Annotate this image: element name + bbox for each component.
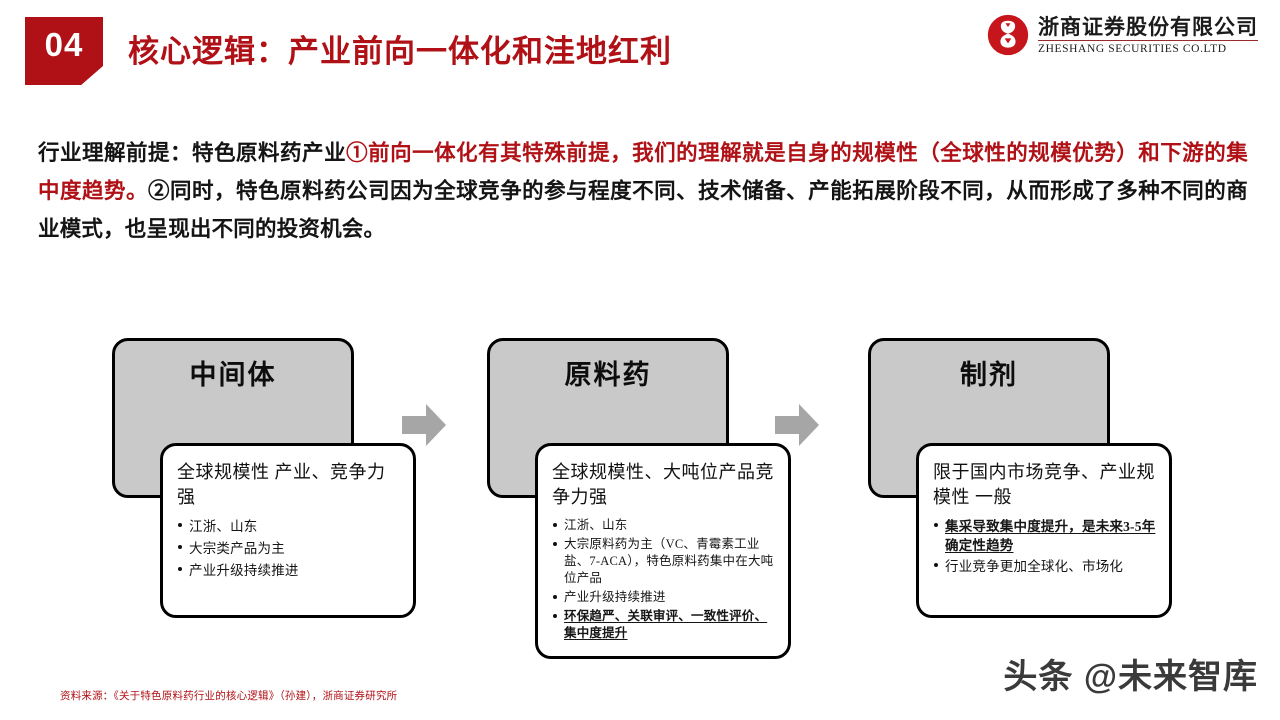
zheshang-logo-icon	[987, 14, 1029, 56]
stage-title: 中间体	[115, 353, 351, 392]
slide-header: 04 核心逻辑：产业前向一体化和洼地红利 浙商证券股份有限公司 ZHESHANG…	[0, 0, 1280, 110]
stage-summary: 全球规模性 产业、竞争力强	[177, 460, 401, 510]
watermark: 头条 @未来智库	[1003, 649, 1258, 698]
right-arrow-icon	[773, 402, 821, 448]
list-item: 大宗原料药为主（VC、青霉素工业盐、7-ACA），特色原料药集中在大吨位产品	[552, 536, 776, 587]
stage-summary: 全球规模性、大吨位产品竞争力强	[552, 460, 776, 510]
brand-text: 浙商证券股份有限公司 ZHESHANG SECURITIES CO.LTD	[1038, 15, 1258, 56]
brand-name-cn: 浙商证券股份有限公司	[1038, 15, 1258, 39]
page-title: 核心逻辑：产业前向一体化和洼地红利	[128, 26, 672, 71]
list-item: 行业竞争更加全球化、市场化	[933, 557, 1157, 576]
list-item: 产业升级持续推进	[552, 589, 776, 606]
section-number-badge: 04	[25, 17, 103, 85]
lead-paragraph: 行业理解前提：特色原料药产业①前向一体化有其特殊前提，我们的理解就是自身的规模性…	[38, 134, 1248, 248]
stage-detail-card[interactable]: 限于国内市场竞争、产业规模性 一般 集采导致集中度提升，是未来3-5年确定性趋势…	[916, 443, 1172, 618]
list-item: 大宗类产品为主	[177, 539, 401, 559]
list-item: 产业升级持续推进	[177, 561, 401, 581]
list-item: 江浙、山东	[177, 517, 401, 537]
list-item-emphasized: 环保趋严、关联审评、一致性评价、集中度提升	[552, 608, 776, 642]
flow-diagram: 中间体 全球规模性 产业、竞争力强 江浙、山东 大宗类产品为主 产业升级持续推进…	[0, 330, 1280, 650]
right-arrow-icon	[400, 402, 448, 448]
stage-bullet-list: 江浙、山东 大宗类产品为主 产业升级持续推进	[177, 517, 401, 581]
flow-stage-formulation[interactable]: 制剂 限于国内市场竞争、产业规模性 一般 集采导致集中度提升，是未来3-5年确定…	[868, 330, 1138, 640]
stage-bullet-list: 集采导致集中度提升，是未来3-5年确定性趋势 行业竞争更加全球化、市场化	[933, 517, 1157, 576]
list-item: 江浙、山东	[552, 517, 776, 534]
brand-name-en: ZHESHANG SECURITIES CO.LTD	[1038, 42, 1258, 56]
brand-divider	[1038, 40, 1258, 41]
flow-stage-api[interactable]: 原料药 全球规模性、大吨位产品竞争力强 江浙、山东 大宗原料药为主（VC、青霉素…	[487, 330, 757, 640]
flow-stage-intermediates[interactable]: 中间体 全球规模性 产业、竞争力强 江浙、山东 大宗类产品为主 产业升级持续推进	[112, 330, 382, 640]
lead-part-1: 行业理解前提：特色原料药产业	[38, 141, 346, 165]
stage-summary: 限于国内市场竞争、产业规模性 一般	[933, 460, 1157, 510]
brand-logo: 浙商证券股份有限公司 ZHESHANG SECURITIES CO.LTD	[987, 14, 1258, 56]
source-note: 资料来源：《关于特色原料药行业的核心逻辑》（孙建），浙商证券研究所	[60, 688, 397, 703]
stage-title: 原料药	[490, 353, 726, 392]
lead-part-3: ②同时，特色原料药公司因为全球竞争的参与程度不同、技术储备、产能拓展阶段不同，从…	[38, 179, 1248, 241]
stage-detail-card[interactable]: 全球规模性、大吨位产品竞争力强 江浙、山东 大宗原料药为主（VC、青霉素工业盐、…	[535, 443, 791, 659]
stage-title: 制剂	[871, 353, 1107, 392]
list-item-emphasized: 集采导致集中度提升，是未来3-5年确定性趋势	[933, 517, 1157, 555]
stage-detail-card[interactable]: 全球规模性 产业、竞争力强 江浙、山东 大宗类产品为主 产业升级持续推进	[160, 443, 416, 618]
stage-bullet-list: 江浙、山东 大宗原料药为主（VC、青霉素工业盐、7-ACA），特色原料药集中在大…	[552, 517, 776, 642]
